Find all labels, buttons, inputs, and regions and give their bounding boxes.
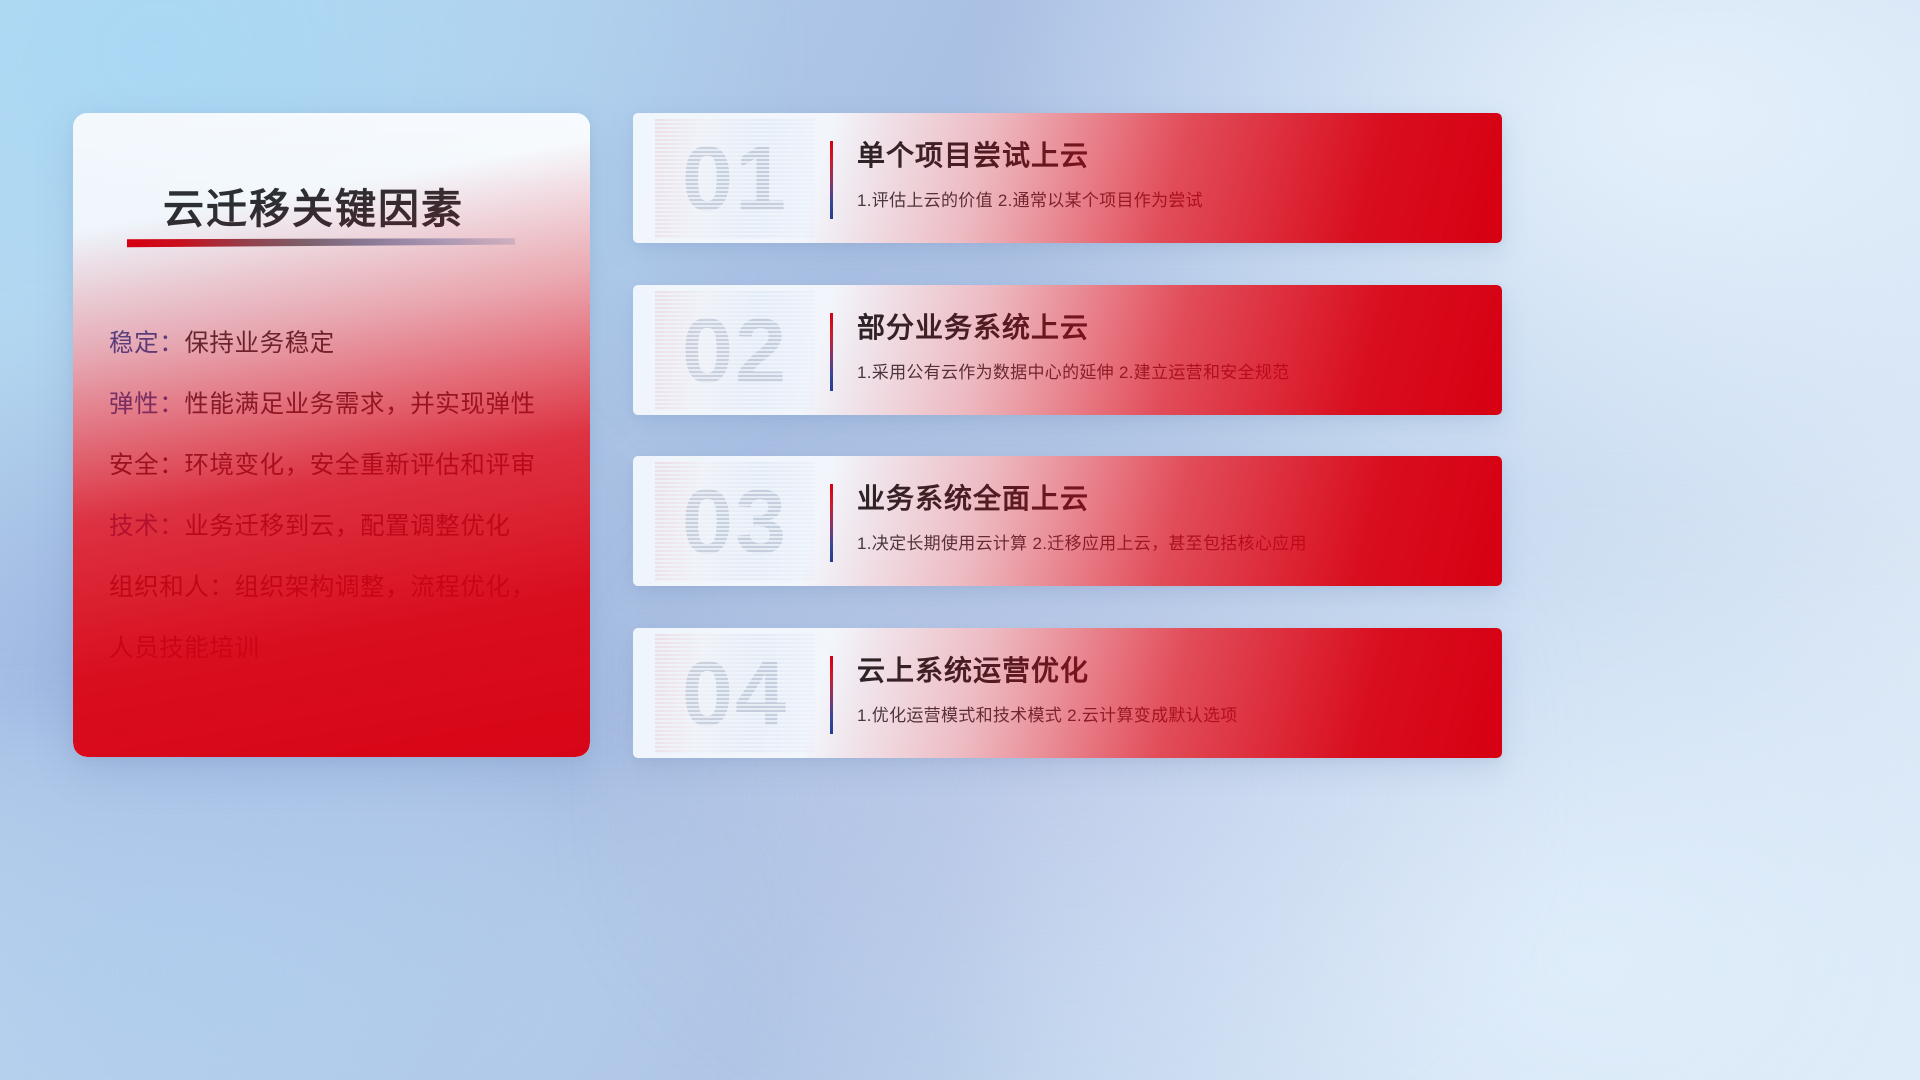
stage-accent-bar	[830, 141, 833, 219]
stage-accent-bar	[830, 484, 833, 562]
stage-number-02: 02	[655, 291, 815, 411]
factor-row: 人员技能培训	[109, 618, 570, 679]
key-factors-panel: 云迁移关键因素 稳定：保持业务稳定 弹性：性能满足业务需求，	[73, 113, 590, 757]
factor-row: 技术：业务迁移到云，配置调整优化	[109, 496, 570, 557]
key-factors-list: 稳定：保持业务稳定 弹性：性能满足业务需求，并实现弹性 安全：环境变化，安全重新…	[109, 313, 570, 679]
factor-row: 组织和人：组织架构调整，流程优化，	[109, 557, 570, 618]
stage-subtitle: 1.决定长期使用云计算 2.迁移应用上云，甚至包括核心应用	[857, 529, 1307, 554]
factor-value: 人员技能培训	[109, 635, 260, 662]
factor-value: 保持业务稳定	[184, 330, 335, 357]
stage-card-01[interactable]: 01 单个项目尝试上云 1.评估上云的价值 2.通常以某个项目作为尝试	[633, 113, 1502, 243]
factor-row: 弹性：性能满足业务需求，并实现弹性	[109, 374, 570, 435]
stage-subtitle: 1.采用公有云作为数据中心的延伸 2.建立运营和安全规范	[857, 358, 1289, 383]
stage-accent-bar	[830, 656, 833, 734]
factor-value: 性能满足业务需求，并实现弹性	[184, 391, 535, 418]
factor-value: 业务迁移到云，配置调整优化	[184, 513, 510, 540]
stage-accent-bar	[830, 313, 833, 391]
stage-subtitle: 1.优化运营模式和技术模式 2.云计算变成默认选项	[857, 701, 1238, 726]
factor-label: 安全：	[109, 452, 184, 479]
stage-subtitle: 1.评估上云的价值 2.通常以某个项目作为尝试	[857, 186, 1203, 211]
stage-title: 部分业务系统上云	[857, 306, 1089, 346]
stage-number-01: 01	[655, 119, 815, 239]
factor-value: 组织架构调整，流程优化，	[235, 574, 536, 601]
factor-label: 技术：	[109, 513, 184, 540]
factor-label: 组织和人：	[109, 574, 235, 601]
factor-row: 安全：环境变化，安全重新评估和评审	[109, 435, 570, 496]
stage-title: 业务系统全面上云	[857, 477, 1089, 517]
stage-number-04: 04	[655, 634, 815, 754]
stage-card-04[interactable]: 04 云上系统运营优化 1.优化运营模式和技术模式 2.云计算变成默认选项	[633, 628, 1502, 758]
stage-card-03[interactable]: 03 业务系统全面上云 1.决定长期使用云计算 2.迁移应用上云，甚至包括核心应…	[633, 456, 1502, 586]
factor-label: 稳定：	[109, 330, 184, 357]
factor-row: 稳定：保持业务稳定	[109, 313, 570, 374]
factor-value: 环境变化，安全重新评估和评审	[184, 452, 535, 479]
stage-title: 单个项目尝试上云	[857, 134, 1089, 174]
stage-number-03: 03	[655, 462, 815, 582]
factor-label: 弹性：	[109, 391, 184, 418]
page-title: 云迁移关键因素	[163, 175, 464, 235]
stage-title: 云上系统运营优化	[857, 649, 1089, 689]
stage-card-02[interactable]: 02 部分业务系统上云 1.采用公有云作为数据中心的延伸 2.建立运营和安全规范	[633, 285, 1502, 415]
title-underline-rule	[127, 238, 515, 248]
slide-stage: 云迁移关键因素 稳定：保持业务稳定 弹性：性能满足业务需求，	[0, 0, 1920, 1080]
